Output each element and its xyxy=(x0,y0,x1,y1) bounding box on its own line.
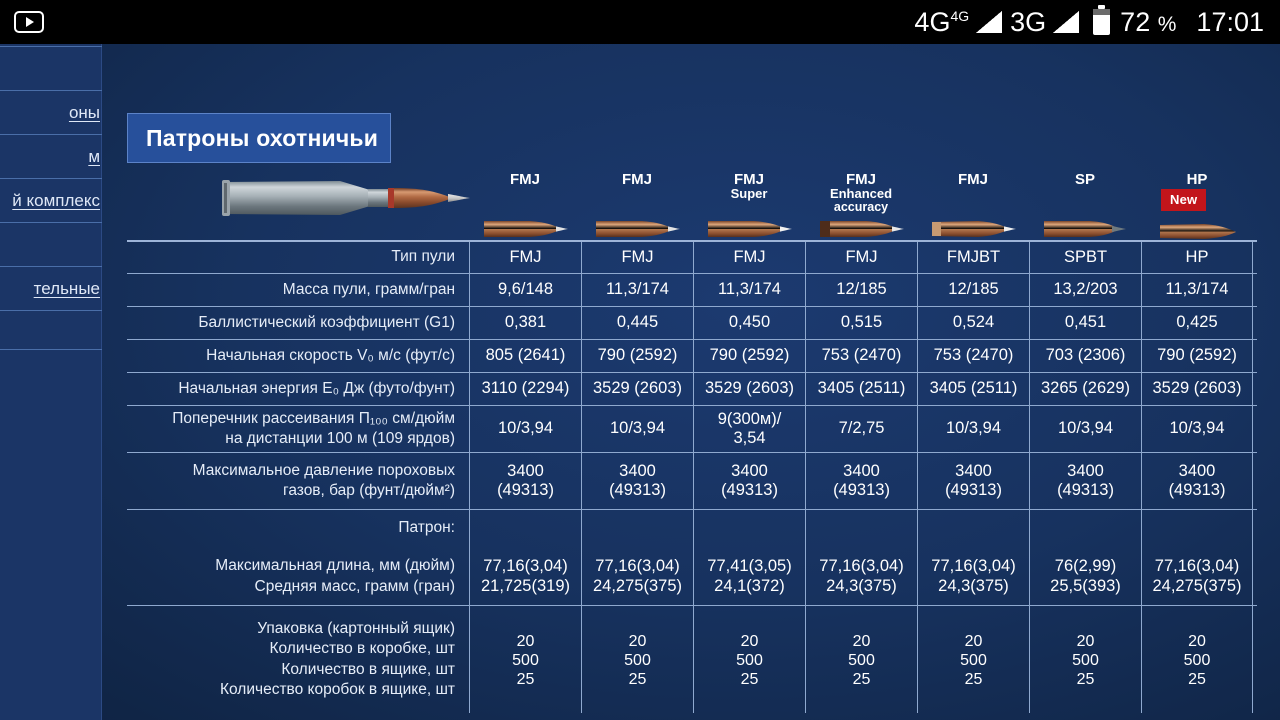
packaging-case-label: Количество в ящике, шт xyxy=(281,660,455,680)
cell: 3400(49313) xyxy=(1029,453,1141,509)
rifle-cartridge-icon xyxy=(220,170,470,226)
packaging-section-labels: Упаковка (картонный ящик) Количество в к… xyxy=(127,606,469,713)
cell: 77,16(3,04)24,275(375) xyxy=(581,510,693,605)
sidebar-item-3[interactable]: й комплекс xyxy=(0,178,102,222)
cell: 0,451 xyxy=(1029,307,1141,339)
cartridge-section: Патрон: Максимальная длина, мм (дюйм) Ср… xyxy=(127,509,1257,605)
column-header-6-name: HP xyxy=(1187,172,1208,187)
cell: 3110 (2294) xyxy=(469,373,581,405)
screen-root: 4G4G 3G 72 % 17:01 оны м й комплекс тель… xyxy=(0,0,1280,720)
cell: 3400(49313) xyxy=(805,453,917,509)
sidebar-item-2-label: м xyxy=(88,147,102,167)
cell: 0,445 xyxy=(581,307,693,339)
cell: FMJBT xyxy=(917,242,1029,273)
cell: 790 (2592) xyxy=(581,340,693,372)
ammunition-spec-table: FMJ FMJ xyxy=(127,172,1257,720)
status-bar-left xyxy=(0,11,44,33)
fmj-enhanced-bullet-icon xyxy=(818,216,904,242)
signal-bars-4g-icon xyxy=(976,11,1002,33)
cell: 77,16(3,04)21,725(319) xyxy=(469,510,581,605)
cell: 13,2/203 xyxy=(1029,274,1141,306)
hero-cartridge-cell xyxy=(127,172,469,240)
cell: 3405 (2511) xyxy=(917,373,1029,405)
row-label-line1: Поперечник рассеивания П₁₀₀ см/дюйм xyxy=(172,409,455,429)
fmj-bullet-icon xyxy=(482,216,568,242)
row-label: Поперечник рассеивания П₁₀₀ см/дюйм на д… xyxy=(127,406,469,452)
cell: 12/185 xyxy=(917,274,1029,306)
cell: 3265 (2629) xyxy=(1029,373,1141,405)
cell: 753 (2470) xyxy=(805,340,917,372)
packaging-heading: Упаковка (картонный ящик) xyxy=(257,619,455,639)
table-header-row: FMJ FMJ xyxy=(127,172,1257,240)
sidebar-item-3-label: й комплекс xyxy=(12,191,102,211)
cell: 2050025 xyxy=(1029,606,1141,713)
cell: 0,515 xyxy=(805,307,917,339)
cell: 2050025 xyxy=(917,606,1029,713)
column-header-2-name: FMJSuper xyxy=(731,172,768,201)
sidebar-item-1-label: оны xyxy=(69,103,102,123)
network-4g-label: 4G4G xyxy=(914,9,969,36)
column-header-6: HP New xyxy=(1141,172,1253,240)
cell: 3400(49313) xyxy=(917,453,1029,509)
column-header-3: FMJEnhancedaccuracy xyxy=(805,172,917,240)
cell: FMJ xyxy=(581,242,693,273)
column-header-3-name: FMJEnhancedaccuracy xyxy=(830,172,892,213)
column-header-1: FMJ xyxy=(581,172,693,240)
cell: 77,16(3,04)24,3(375) xyxy=(917,510,1029,605)
clock: 17:01 xyxy=(1196,7,1264,38)
cell: 3529 (2603) xyxy=(581,373,693,405)
row-label-line1: Максимальное давление пороховых xyxy=(193,461,455,481)
cell: 7/2,75 xyxy=(805,406,917,452)
cell: FMJ xyxy=(805,242,917,273)
cell: SPBT xyxy=(1029,242,1141,273)
row-label-line2: на дистанции 100 м (109 ярдов) xyxy=(225,429,455,449)
fmj-super-bullet-icon xyxy=(706,216,792,242)
cell: FMJ xyxy=(693,242,805,273)
battery-icon xyxy=(1093,9,1110,35)
row-label: Масса пули, грамм/гран xyxy=(127,274,469,306)
sidebar-item-4[interactable] xyxy=(0,222,102,266)
column-header-5-name: SP xyxy=(1075,172,1095,187)
cell: 9(300м)/3,54 xyxy=(693,406,805,452)
cell: 9,6/148 xyxy=(469,274,581,306)
column-header-5: SP xyxy=(1029,172,1141,240)
cell: 2050025 xyxy=(1141,606,1253,713)
column-header-4-name: FMJ xyxy=(958,172,988,187)
row-label: Максимальное давление пороховых газов, б… xyxy=(127,453,469,509)
cell: 2050025 xyxy=(805,606,917,713)
cell: 790 (2592) xyxy=(693,340,805,372)
row-label: Начальная энергия E₀ Дж (футо/фунт) xyxy=(127,373,469,405)
cell: FMJ xyxy=(469,242,581,273)
cell: 2050025 xyxy=(581,606,693,713)
table-row: Поперечник рассеивания П₁₀₀ см/дюйм на д… xyxy=(127,405,1257,452)
column-header-1-name: FMJ xyxy=(622,172,652,187)
sidebar-item-5[interactable]: тельные xyxy=(0,266,102,310)
cell: 12/185 xyxy=(805,274,917,306)
row-label: Баллистический коэффициент (G1) xyxy=(127,307,469,339)
battery-percent: 72 % xyxy=(1120,7,1176,38)
cell: 10/3,94 xyxy=(1141,406,1253,452)
column-header-0-name: FMJ xyxy=(510,172,540,187)
cartridge-section-labels: Патрон: Максимальная длина, мм (дюйм) Ср… xyxy=(127,510,469,605)
cell: 703 (2306) xyxy=(1029,340,1141,372)
cell: 11,3/174 xyxy=(1141,274,1253,306)
fmj-bullet-icon xyxy=(594,216,680,242)
cell: 0,381 xyxy=(469,307,581,339)
cell: 3400(49313) xyxy=(581,453,693,509)
cell: 11,3/174 xyxy=(581,274,693,306)
cell: 0,524 xyxy=(917,307,1029,339)
column-header-2: FMJSuper xyxy=(693,172,805,240)
cell: 77,16(3,04)24,275(375) xyxy=(1141,510,1253,605)
packaging-boxes-per-case-label: Количество коробок в ящике, шт xyxy=(220,680,455,700)
column-header-4: FMJ xyxy=(917,172,1029,240)
cell: 11,3/174 xyxy=(693,274,805,306)
table-row: Масса пули, грамм/гран 9,6/148 11,3/174 … xyxy=(127,273,1257,306)
packaging-section: Упаковка (картонный ящик) Количество в к… xyxy=(127,605,1257,713)
cell: 76(2,99)25,5(393) xyxy=(1029,510,1141,605)
table-row: Начальная энергия E₀ Дж (футо/фунт) 3110… xyxy=(127,372,1257,405)
column-header-0: FMJ xyxy=(469,172,581,240)
table-row: Максимальное давление пороховых газов, б… xyxy=(127,452,1257,509)
cell: HP xyxy=(1141,242,1253,273)
sidebar-navigation: оны м й комплекс тельные xyxy=(0,44,102,720)
page-title-text: Патроны охотничьи xyxy=(146,125,378,152)
status-bar-right: 4G4G 3G 72 % 17:01 xyxy=(914,7,1280,38)
row-label: Начальная скорость V₀ м/с (фут/с) xyxy=(127,340,469,372)
web-page-content: оны м й комплекс тельные Патроны охотнич… xyxy=(0,44,1280,720)
signal-bars-3g-icon xyxy=(1053,11,1079,33)
sidebar-item-5-label: тельные xyxy=(34,279,102,299)
sp-bullet-icon xyxy=(1042,216,1128,242)
cell: 2050025 xyxy=(693,606,805,713)
cartridge-section-heading: Патрон: xyxy=(398,518,455,538)
row-label: Тип пули xyxy=(127,242,469,273)
cell: 10/3,94 xyxy=(469,406,581,452)
page-title: Патроны охотничьи xyxy=(127,113,391,163)
network-3g-label: 3G xyxy=(1010,9,1046,36)
cell: 3529 (2603) xyxy=(693,373,805,405)
cell: 10/3,94 xyxy=(581,406,693,452)
packaging-box-label: Количество в коробке, шт xyxy=(269,639,455,659)
cell: 3529 (2603) xyxy=(1141,373,1253,405)
hp-bullet-icon xyxy=(1154,218,1240,244)
new-badge: New xyxy=(1161,189,1206,211)
cell: 77,16(3,04)24,3(375) xyxy=(805,510,917,605)
cell: 790 (2592) xyxy=(1141,340,1253,372)
cell: 3400(49313) xyxy=(1141,453,1253,509)
cell: 3405 (2511) xyxy=(805,373,917,405)
cell: 3400(49313) xyxy=(693,453,805,509)
row-label-line2: газов, бар (фунт/дюйм²) xyxy=(283,481,455,501)
youtube-icon[interactable] xyxy=(14,11,44,33)
android-status-bar: 4G4G 3G 72 % 17:01 xyxy=(0,0,1280,44)
sidebar-item-1[interactable]: оны xyxy=(0,90,102,134)
cell: 10/3,94 xyxy=(917,406,1029,452)
sidebar-item-0[interactable] xyxy=(0,46,102,90)
cell: 2050025 xyxy=(469,606,581,713)
cell: 77,41(3,05)24,1(372) xyxy=(693,510,805,605)
cell: 0,425 xyxy=(1141,307,1253,339)
table-row: Начальная скорость V₀ м/с (фут/с) 805 (2… xyxy=(127,339,1257,372)
cell: 753 (2470) xyxy=(917,340,1029,372)
cartridge-length-label: Максимальная длина, мм (дюйм) xyxy=(215,556,455,576)
sidebar-item-2[interactable]: м xyxy=(0,134,102,178)
cell: 10/3,94 xyxy=(1029,406,1141,452)
sidebar-item-6[interactable] xyxy=(0,310,102,350)
cell: 0,450 xyxy=(693,307,805,339)
cell: 805 (2641) xyxy=(469,340,581,372)
fmjbt-bullet-icon xyxy=(930,216,1016,242)
table-row: Тип пули FMJ FMJ FMJ FMJ FMJBT SPBT HP xyxy=(127,240,1257,273)
cell: 3400(49313) xyxy=(469,453,581,509)
table-row: Баллистический коэффициент (G1) 0,381 0,… xyxy=(127,306,1257,339)
cartridge-mass-label: Средняя масс, грамм (гран) xyxy=(255,577,455,597)
